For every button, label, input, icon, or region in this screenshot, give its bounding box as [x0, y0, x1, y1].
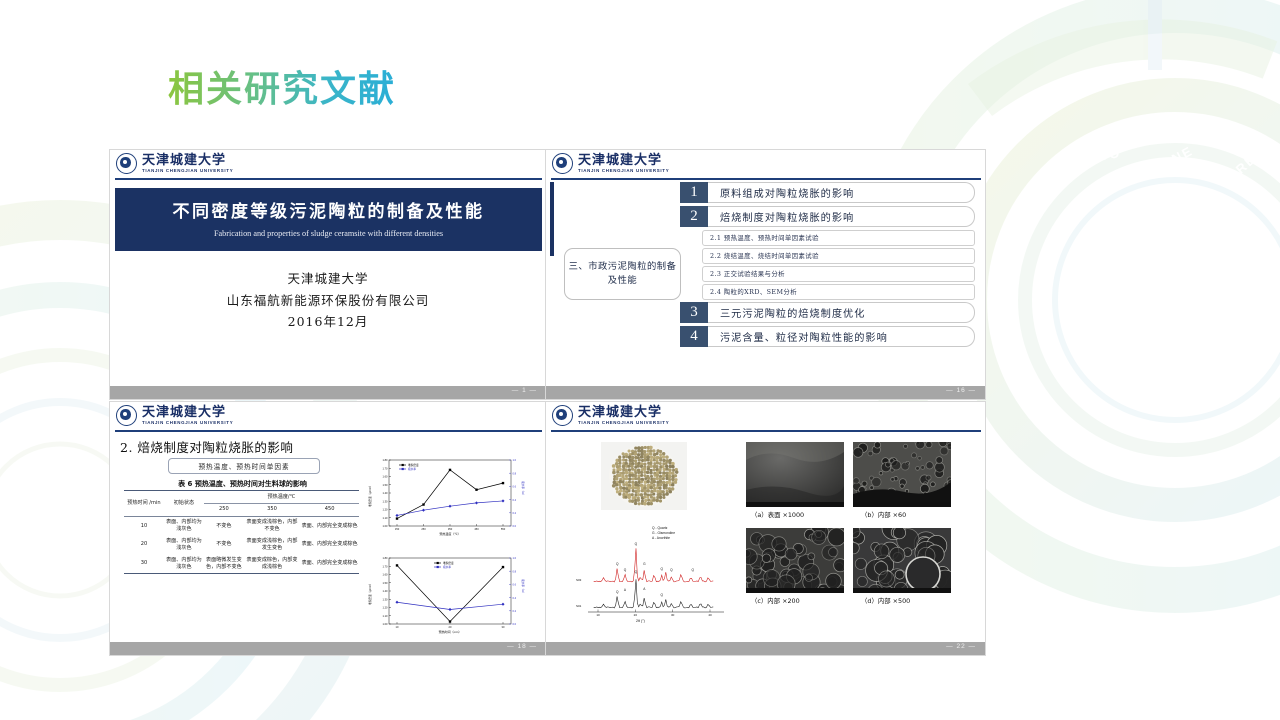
agenda-section-text: 三、市政污泥陶粒的制备及性能 — [565, 260, 680, 288]
ceramsite-disc — [609, 445, 679, 507]
slide-cover[interactable]: 天津城建大学 TIANJIN CHENGJIAN UNIVERSITY 不同密度… — [110, 150, 546, 399]
svg-text:20: 20 — [634, 613, 638, 617]
chart-preheat-time: 1.001.101.201.301.401.501.601.701.800.00… — [365, 550, 537, 643]
svg-text:1.10: 1.10 — [382, 516, 388, 520]
agenda-accent-bar — [550, 182, 554, 256]
university-logo: 天津城建大学 TIANJIN CHENGJIAN UNIVERSITY — [116, 405, 546, 426]
svg-text:10: 10 — [596, 613, 600, 617]
table-row: 30 表面、内部均为浅灰色 表面略微发生变色，内部不变色 表面变成棕色，内部变成… — [124, 554, 359, 573]
xrd-xaxis-label: 2θ (°) — [636, 619, 645, 623]
svg-text:40: 40 — [708, 613, 712, 617]
agenda-items: 1 原料组成对陶粒烧胀的影响 2 焙烧制度对陶粒烧胀的影响 2.1 预热温度、预… — [680, 182, 975, 350]
table-caption: 表 6 预热温度、预热时间对生料球的影响 — [130, 479, 355, 489]
agenda-section-label: 三、市政污泥陶粒的制备及性能 — [564, 248, 681, 300]
xrd-sem-body: （a）表面 ×1000 （b）内部 ×60 （c）内部 ×200 （d）内部 ×… — [546, 432, 985, 644]
cover-body: 不同密度等级污泥陶粒的制备及性能 Fabrication and propert… — [110, 180, 546, 386]
page-number: — 18 — — [507, 643, 537, 650]
sem-image-c — [746, 528, 844, 593]
svg-text:0.8: 0.8 — [513, 569, 517, 573]
svg-text:1.0: 1.0 — [513, 458, 517, 462]
cover-line-company: 山东福航新能源环保股份有限公司 — [110, 290, 546, 312]
university-name-en: TIANJIN CHENGJIAN UNIVERSITY — [578, 420, 669, 425]
svg-text:0.6: 0.6 — [513, 583, 517, 587]
agenda-number: 4 — [680, 326, 708, 347]
cell-initial: 表面、内部均为浅灰色 — [164, 554, 204, 573]
svg-text:1.70: 1.70 — [382, 466, 388, 470]
decor-word-one: ONE — [1158, 143, 1195, 172]
slide-footer: — 18 — — [110, 642, 546, 655]
slide-header: 天津城建大学 TIANJIN CHENGJIAN UNIVERSITY — [110, 150, 546, 180]
university-logo: 天津城建大学 TIANJIN CHENGJIAN UNIVERSITY — [116, 153, 546, 174]
page-number: — 16 — — [946, 387, 976, 394]
svg-text:1.50: 1.50 — [382, 581, 388, 585]
sem-caption-d: （d）内部 ×500 — [861, 596, 910, 605]
svg-text:1.70: 1.70 — [382, 564, 388, 568]
experiment-pill: 预热温度、预热时间单因素 — [168, 458, 320, 474]
xrd-legend-a: A - Anorthite — [652, 536, 675, 541]
agenda-subitem-2-4[interactable]: 2.4 陶粒的XRD、SEM分析 — [702, 284, 975, 300]
agenda-subitem-2-3[interactable]: 2.3 正交试验结果与分析 — [702, 266, 975, 282]
svg-text:0.6: 0.6 — [513, 485, 517, 489]
cell-initial: 表面、内部均为浅灰色 — [164, 536, 204, 555]
agenda-label: 焙烧制度对陶粒烧胀的影响 — [708, 206, 975, 227]
cell-time: 30 — [124, 554, 164, 573]
agenda-subitems: 2.1 预热温度、预热时间单因素试验 2.2 烧结温度、烧结时间单因素试验 2.… — [702, 230, 975, 300]
agenda-number: 2 — [680, 206, 708, 227]
cover-title-band: 不同密度等级污泥陶粒的制备及性能 Fabrication and propert… — [115, 188, 542, 251]
xrd-chart: 10203040S03S01QQQGQQQQQAAQ Q - Quartz G … — [574, 520, 734, 628]
university-emblem-icon — [552, 405, 573, 426]
table-header-row: 预热时间 /min 初始状态 预热温度/℃ — [124, 491, 359, 504]
university-name-en: TIANJIN CHENGJIAN UNIVERSITY — [578, 168, 669, 173]
page-title: 相关研究文献 — [168, 60, 396, 112]
svg-text:S03: S03 — [576, 578, 582, 582]
svg-text:S01: S01 — [576, 604, 582, 608]
chart-column: 1.001.101.201.301.401.501.601.701.800.00… — [365, 452, 539, 648]
svg-text:0.8: 0.8 — [513, 471, 517, 475]
svg-text:堆积密度（g/cm³）: 堆积密度（g/cm³） — [368, 484, 372, 507]
agenda-label: 三元污泥陶粒的焙烧制度优化 — [708, 302, 975, 323]
page-number: — 1 — — [512, 387, 537, 394]
university-name-en: TIANJIN CHENGJIAN UNIVERSITY — [142, 168, 233, 173]
decor-word-two: TWO — [1084, 145, 1122, 166]
agenda-item-3[interactable]: 3 三元污泥陶粒的焙烧制度优化 — [680, 302, 975, 323]
sem-image-b — [853, 442, 951, 507]
agenda-label: 原料组成对陶粒烧胀的影响 — [708, 182, 975, 203]
chart-2-svg: 1.001.101.201.301.401.501.601.701.800.00… — [365, 550, 537, 643]
agenda-subitem-2-1[interactable]: 2.1 预热温度、预热时间单因素试验 — [702, 230, 975, 246]
svg-text:30: 30 — [671, 613, 675, 617]
university-emblem-icon — [552, 153, 573, 174]
university-name-cn: 天津城建大学 — [578, 154, 669, 167]
sem-scale-bar — [853, 502, 951, 507]
svg-text:堆积密度（g/cm³）: 堆积密度（g/cm³） — [368, 582, 372, 605]
sem-image-a — [746, 442, 844, 507]
cover-line-date: 2016年12月 — [110, 311, 546, 333]
chart-1-svg: 1.001.101.201.301.401.501.601.701.800.00… — [365, 452, 537, 545]
svg-text:0.2: 0.2 — [513, 511, 517, 515]
university-name-cn: 天津城建大学 — [142, 154, 233, 167]
slide-firing-regime[interactable]: 天津城建大学 TIANJIN CHENGJIAN UNIVERSITY 2. 焙… — [110, 402, 546, 655]
svg-text:堆积密度: 堆积密度 — [408, 463, 419, 467]
cell-250: 不变色 — [204, 536, 244, 555]
svg-text:250: 250 — [421, 527, 426, 531]
cell-350: 表面变成浅棕色，内部发生变色 — [244, 536, 300, 555]
decor-word-three: THREE — [1217, 144, 1267, 191]
agenda-subitem-2-2[interactable]: 2.2 烧结温度、烧结时间单因素试验 — [702, 248, 975, 264]
th-initial: 初始状态 — [164, 491, 204, 517]
th-time: 预热时间 /min — [124, 491, 164, 517]
cell-450: 表面、内部完全变成棕色 — [300, 536, 359, 555]
cover-affiliation-block: 天津城建大学 山东福航新能源环保股份有限公司 2016年12月 — [110, 268, 546, 333]
svg-text:1.60: 1.60 — [382, 573, 388, 577]
svg-text:1.80: 1.80 — [382, 458, 388, 462]
cell-250: 不变色 — [204, 516, 244, 535]
agenda-item-2[interactable]: 2 焙烧制度对陶粒烧胀的影响 — [680, 206, 975, 227]
cell-initial: 表面、内部均为浅灰色 — [164, 516, 204, 535]
page-number: — 22 — — [946, 643, 976, 650]
svg-text:1.30: 1.30 — [382, 597, 388, 601]
svg-text:预热温度（℃）: 预热温度（℃） — [439, 531, 460, 536]
sem-d-svg — [853, 528, 951, 593]
cell-350: 表面变成浅棕色，内部不变色 — [244, 516, 300, 535]
svg-text:0.4: 0.4 — [513, 498, 517, 502]
svg-text:1.40: 1.40 — [382, 491, 388, 495]
cell-time: 20 — [124, 536, 164, 555]
university-logo: 天津城建大学 TIANJIN CHENGJIAN UNIVERSITY — [552, 153, 985, 174]
svg-text:吸水率: 吸水率 — [408, 467, 416, 471]
svg-text:0.0: 0.0 — [513, 524, 517, 528]
slide-header: 天津城建大学 TIANJIN CHENGJIAN UNIVERSITY — [546, 402, 985, 432]
svg-text:1.0: 1.0 — [513, 556, 517, 560]
svg-text:1.10: 1.10 — [382, 614, 388, 618]
cell-250: 表面略微发生变色，内部不变色 — [204, 554, 244, 573]
sem-b-svg — [853, 442, 951, 507]
chart-preheat-temperature: 1.001.101.201.301.401.501.601.701.800.00… — [365, 452, 537, 545]
firing-regime-body: 2. 焙烧制度对陶粒烧胀的影响 预热温度、预热时间单因素 表 6 预热温度、预热… — [110, 432, 546, 644]
svg-text:堆积密度: 堆积密度 — [443, 561, 454, 565]
xrd-legend: Q - Quartz G - Gismondine A - Anorthite — [652, 526, 675, 541]
agenda-label: 污泥含量、粒径对陶粒性能的影响 — [708, 326, 975, 347]
table-row: 10 表面、内部均为浅灰色 不变色 表面变成浅棕色，内部不变色 表面、内部完全变… — [124, 516, 359, 535]
svg-text:350: 350 — [448, 527, 453, 531]
svg-text:1.20: 1.20 — [382, 606, 388, 610]
svg-text:1.80: 1.80 — [382, 556, 388, 560]
svg-text:0.0: 0.0 — [513, 622, 517, 626]
th-350: 350 — [244, 503, 300, 516]
university-name-cn: 天津城建大学 — [578, 406, 669, 419]
agenda-number: 3 — [680, 302, 708, 323]
svg-text:1.40: 1.40 — [382, 589, 388, 593]
svg-text:预热时间（min）: 预热时间（min） — [439, 629, 462, 634]
agenda-item-4[interactable]: 4 污泥含量、粒径对陶粒性能的影响 — [680, 326, 975, 347]
agenda-number: 1 — [680, 182, 708, 203]
svg-text:1.00: 1.00 — [382, 622, 388, 626]
svg-text:0.4: 0.4 — [513, 596, 517, 600]
ceramsite-pellets-svg — [609, 445, 679, 507]
slide-header: 天津城建大学 TIANJIN CHENGJIAN UNIVERSITY — [546, 150, 985, 180]
sem-image-d — [853, 528, 951, 593]
slide-header: 天津城建大学 TIANJIN CHENGJIAN UNIVERSITY — [110, 402, 546, 432]
svg-text:吸水率: 吸水率 — [443, 565, 451, 569]
cover-title-en: Fabrication and properties of sludge cer… — [115, 229, 542, 238]
table-row: 20 表面、内部均为浅灰色 不变色 表面变成浅棕色，内部发生变色 表面、内部完全… — [124, 536, 359, 555]
svg-text:1.30: 1.30 — [382, 499, 388, 503]
sem-a-svg — [746, 442, 844, 507]
svg-text:吸水率（%）: 吸水率（%） — [521, 579, 525, 595]
agenda-item-1[interactable]: 1 原料组成对陶粒烧胀的影响 — [680, 182, 975, 203]
university-logo: 天津城建大学 TIANJIN CHENGJIAN UNIVERSITY — [552, 405, 985, 426]
th-450: 450 — [300, 503, 359, 516]
university-emblem-icon — [116, 405, 137, 426]
svg-text:1.20: 1.20 — [382, 508, 388, 512]
results-table: 预热时间 /min 初始状态 预热温度/℃ 250 350 450 10 表面、… — [124, 490, 359, 574]
agenda-body: 三、市政污泥陶粒的制备及性能 1 原料组成对陶粒烧胀的影响 2 焙烧制度对陶粒烧… — [546, 180, 985, 386]
sem-scale-bar — [746, 502, 844, 507]
cell-450: 表面、内部完全变成棕色 — [300, 554, 359, 573]
slide-xrd-sem[interactable]: 天津城建大学 TIANJIN CHENGJIAN UNIVERSITY — [546, 402, 985, 655]
ceramsite-photo — [601, 442, 687, 510]
university-name-en: TIANJIN CHENGJIAN UNIVERSITY — [142, 420, 233, 425]
sem-caption-c: （c）内部 ×200 — [751, 596, 800, 605]
slide-footer: — 1 — — [110, 386, 546, 399]
sem-caption-b: （b）内部 ×60 — [861, 510, 906, 519]
university-name-cn: 天津城建大学 — [142, 406, 233, 419]
svg-text:550: 550 — [501, 527, 506, 531]
slide-footer: — 22 — — [546, 642, 985, 655]
svg-text:1.50: 1.50 — [382, 483, 388, 487]
svg-text:150: 150 — [395, 527, 400, 531]
sem-scale-bar — [853, 588, 951, 593]
svg-text:1.00: 1.00 — [382, 524, 388, 528]
cell-time: 10 — [124, 516, 164, 535]
sem-caption-a: （a）表面 ×1000 — [751, 510, 804, 519]
th-group: 预热温度/℃ — [204, 491, 359, 504]
svg-text:1.60: 1.60 — [382, 475, 388, 479]
th-250: 250 — [204, 503, 244, 516]
svg-text:450: 450 — [474, 527, 479, 531]
cell-350: 表面变成棕色，内部变成浅棕色 — [244, 554, 300, 573]
sem-c-svg — [746, 528, 844, 593]
svg-text:0.2: 0.2 — [513, 609, 517, 613]
slide-thumbnail-grid: 天津城建大学 TIANJIN CHENGJIAN UNIVERSITY 不同密度… — [110, 150, 985, 655]
cover-line-university: 天津城建大学 — [110, 268, 546, 290]
cell-450: 表面、内部完全变成棕色 — [300, 516, 359, 535]
cover-title-cn: 不同密度等级污泥陶粒的制备及性能 — [115, 197, 542, 222]
svg-text:吸水率（%）: 吸水率（%） — [521, 481, 525, 497]
slide-heading: 2. 焙烧制度对陶粒烧胀的影响 — [120, 437, 293, 456]
slide-agenda[interactable]: 天津城建大学 TIANJIN CHENGJIAN UNIVERSITY 三、市政… — [546, 150, 985, 399]
slide-footer: — 16 — — [546, 386, 985, 399]
university-emblem-icon — [116, 153, 137, 174]
sem-scale-bar — [746, 588, 844, 593]
